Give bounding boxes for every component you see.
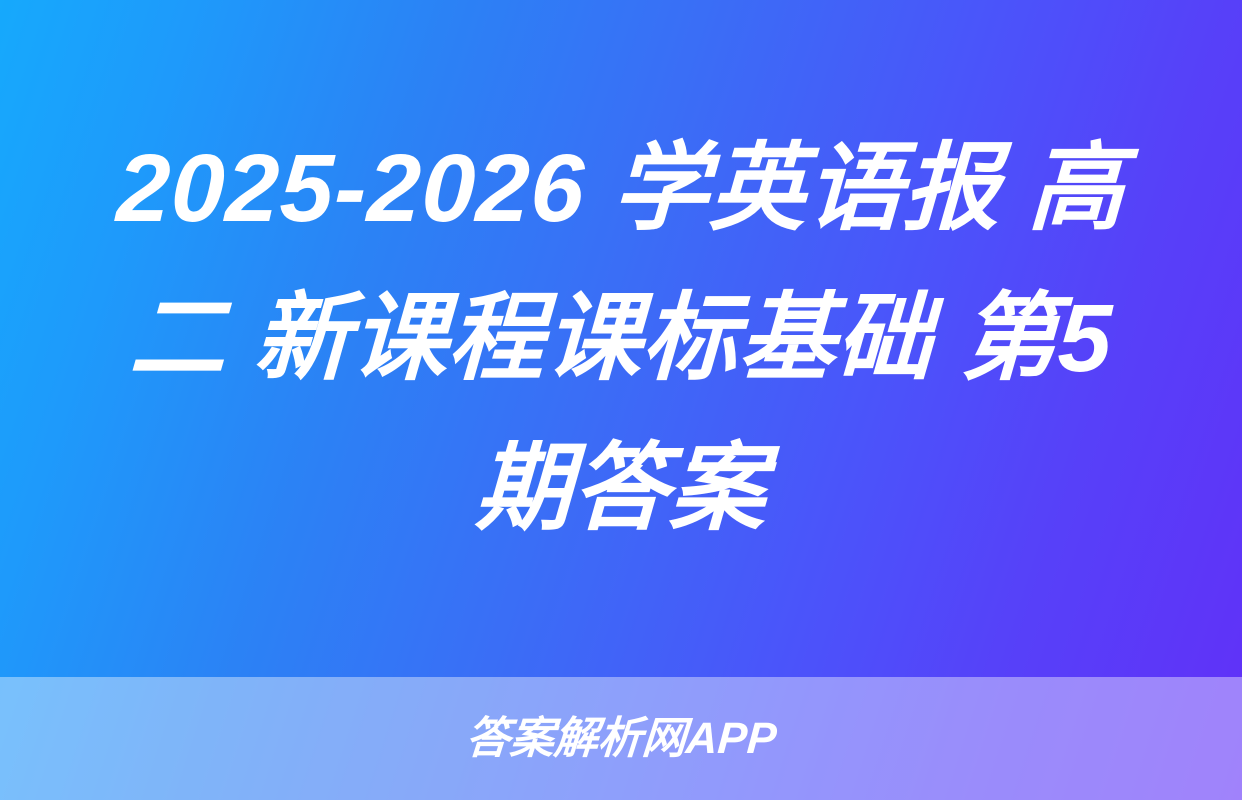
answer-banner: 2025-2026 学英语报 高 二 新课程课标基础 第5 期答案 答案解析网A… — [0, 0, 1242, 800]
headline-line-3: 期答案 — [27, 414, 1214, 564]
headline-block: 2025-2026 学英语报 高 二 新课程课标基础 第5 期答案 — [0, 0, 1242, 677]
headline-line-1: 2025-2026 学英语报 高 — [27, 114, 1214, 264]
app-brand-label: 答案解析网APP — [464, 717, 778, 761]
footer-watermark-bar: 答案解析网APP — [0, 677, 1242, 800]
headline-line-2: 二 新课程课标基础 第5 — [27, 264, 1214, 414]
